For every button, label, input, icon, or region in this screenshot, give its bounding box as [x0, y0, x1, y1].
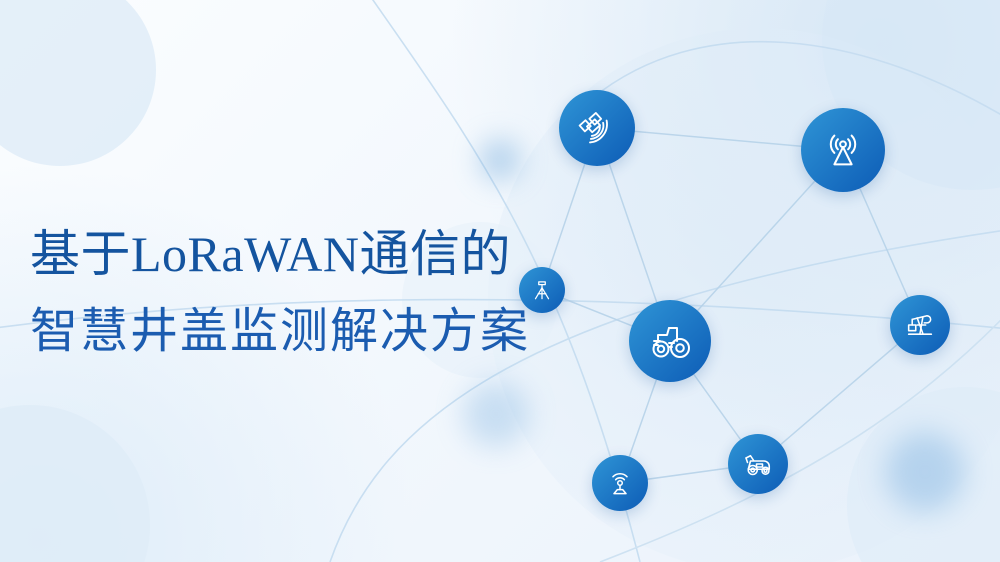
wifi-sensor-icon: [604, 467, 636, 499]
node-harvester[interactable]: [728, 434, 788, 494]
decor-blur-dot: [463, 381, 529, 447]
page-title-line-2: 智慧井盖监测解决方案: [30, 306, 570, 359]
title-block: 基于LoRaWAN通信的 智慧井盖监测解决方案: [30, 226, 570, 358]
harvester-icon: [740, 446, 776, 482]
node-antenna-tower[interactable]: [801, 108, 885, 192]
satellite-icon: [576, 107, 618, 149]
tractor-icon: [646, 317, 694, 365]
node-oil-pumpjack[interactable]: [890, 295, 950, 355]
node-tractor[interactable]: [629, 300, 711, 382]
node-wifi-sensor[interactable]: [592, 455, 648, 511]
radio-tower-icon: [820, 127, 866, 173]
slide-canvas: 基于LoRaWAN通信的 智慧井盖监测解决方案: [0, 0, 1000, 562]
decor-blur-dot: [480, 140, 520, 180]
oil-pumpjack-icon: [903, 308, 937, 342]
decor-blur-dot: [885, 432, 965, 512]
page-title-line-1: 基于LoRaWAN通信的: [30, 226, 570, 284]
node-satellite[interactable]: [559, 90, 635, 166]
